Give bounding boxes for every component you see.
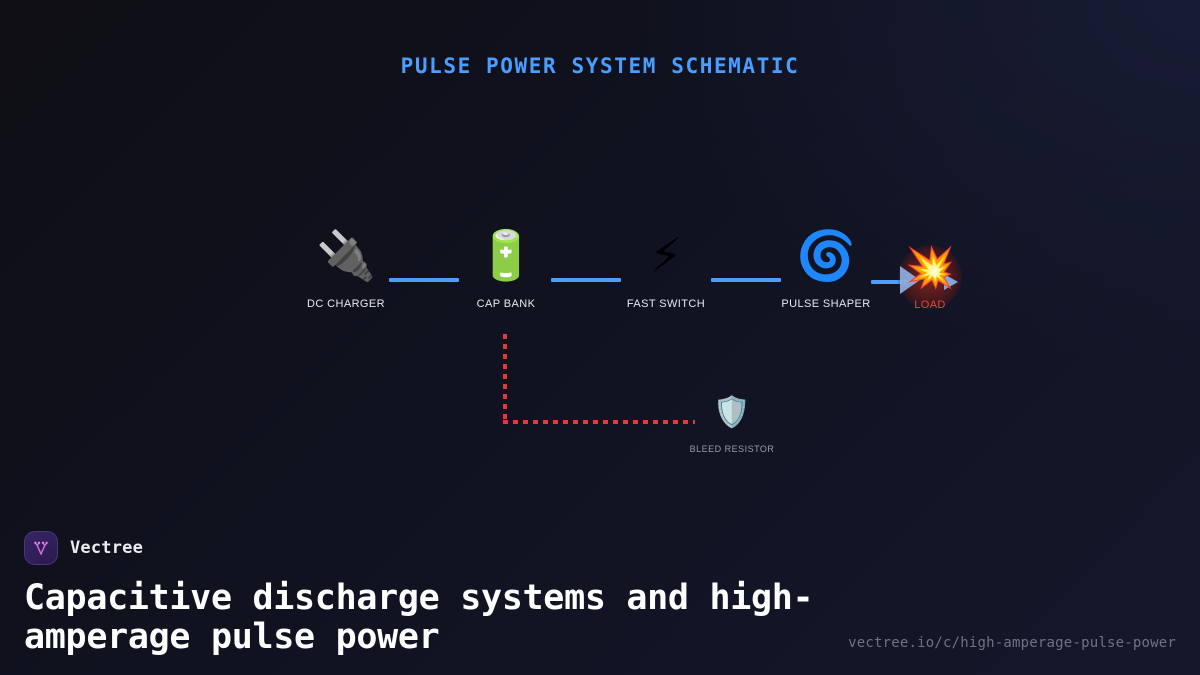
electric-plug-icon: 🔌	[296, 232, 396, 288]
node-dc-charger[interactable]: 🔌 DC CHARGER	[296, 232, 396, 310]
bleed-path-horizontal	[503, 420, 695, 424]
node-cap-bank[interactable]: 🔋 CAP BANK	[456, 232, 556, 310]
battery-icon: 🔋	[456, 232, 556, 288]
cyclone-spiral-icon: 🌀	[776, 232, 876, 288]
node-label-cap-bank: CAP BANK	[456, 298, 556, 310]
connector-switch-to-shaper	[711, 278, 781, 282]
brand: Vectree	[24, 531, 1176, 565]
shield-icon: 🛡️	[682, 398, 782, 436]
source-url: vectree.io/c/high-amperage-pulse-power	[848, 635, 1176, 651]
connector-capbank-to-switch	[551, 278, 621, 282]
node-label-fast-switch: FAST SWITCH	[616, 298, 716, 310]
footer: Vectree Capacitive discharge systems and…	[0, 531, 1200, 675]
bleed-path-vertical	[503, 334, 507, 424]
node-label-dc-charger: DC CHARGER	[296, 298, 396, 310]
node-label-load: LOAD	[880, 299, 980, 311]
node-pulse-shaper[interactable]: 🌀 PULSE SHAPER	[776, 232, 876, 310]
node-fast-switch[interactable]: ⚡ FAST SWITCH	[616, 232, 716, 310]
node-label-bleed-resistor: BLEED RESISTOR	[682, 444, 782, 454]
vectree-logo-icon	[24, 531, 58, 565]
lightning-bolt-icon: ⚡	[616, 232, 716, 288]
explosion-icon: 💥	[880, 243, 980, 293]
node-bleed-resistor[interactable]: 🛡️ BLEED RESISTOR	[682, 398, 782, 454]
brand-name: Vectree	[70, 538, 143, 558]
headline: Capacitive discharge systems and high-am…	[24, 579, 864, 657]
connector-charger-to-capbank	[389, 278, 459, 282]
node-label-pulse-shaper: PULSE SHAPER	[776, 298, 876, 310]
node-load[interactable]: 💥 LOAD	[880, 243, 980, 311]
